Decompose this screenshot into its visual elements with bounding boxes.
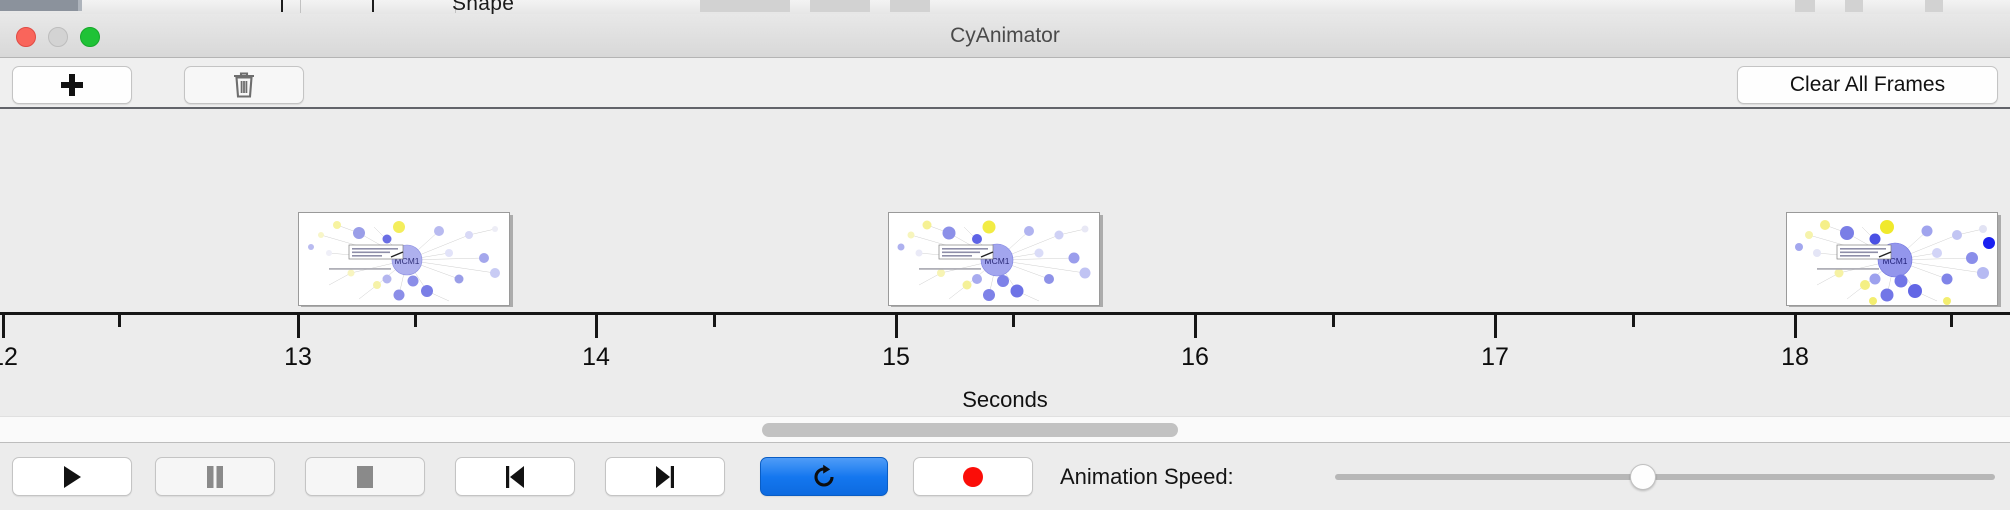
play-button[interactable] — [12, 457, 132, 496]
ruler-tick-major — [895, 315, 898, 338]
background-titlebar-chunk — [0, 0, 78, 11]
timeline-frame-thumbnail[interactable]: MCM1 — [888, 212, 1100, 306]
ruler-tick-label: 17 — [1481, 343, 1509, 372]
add-frame-button[interactable] — [12, 66, 132, 104]
ruler-tick-minor — [414, 315, 417, 327]
background-panel — [1795, 0, 1815, 12]
record-button[interactable] — [913, 457, 1033, 496]
timeline-frame-thumbnail[interactable]: MCM1 — [298, 212, 510, 306]
ruler-tick-major — [297, 315, 300, 338]
background-panel — [810, 0, 870, 12]
scrollbar-thumb[interactable] — [762, 423, 1178, 437]
ruler-tick-label: 18 — [1781, 343, 1809, 372]
ruler-tick-label: 14 — [582, 343, 610, 372]
pause-icon — [205, 465, 225, 489]
plus-icon — [61, 74, 83, 96]
animation-speed-label: Animation Speed: — [1060, 457, 1234, 496]
record-icon — [961, 465, 985, 489]
timeline-ruler[interactable]: 12 13 14 15 16 17 18 Seconds — [0, 307, 2010, 412]
skip-back-icon — [503, 465, 527, 489]
background-panel — [700, 0, 790, 12]
skip-back-button[interactable] — [455, 457, 575, 496]
background-panel — [1845, 0, 1863, 12]
skip-forward-icon — [653, 465, 677, 489]
background-window-label: Shape — [452, 0, 514, 14]
network-graph-thumbnail: MCM1 — [889, 213, 1100, 306]
clear-all-frames-button[interactable]: Clear All Frames — [1737, 66, 1998, 104]
ruler-tick-label: 13 — [284, 343, 312, 372]
animation-speed-slider[interactable] — [1335, 457, 1995, 496]
ruler-tick-label: 15 — [882, 343, 910, 372]
slider-track[interactable] — [1335, 474, 1995, 480]
ruler-tick-minor — [1332, 315, 1335, 327]
background-tick — [372, 0, 374, 12]
ruler-tick-major — [1494, 315, 1497, 338]
toolbar: Clear All Frames — [0, 58, 2010, 109]
ruler-tick-minor — [1950, 315, 1953, 327]
ruler-tick-label: 12 — [0, 343, 18, 372]
ruler-tick-label: 16 — [1181, 343, 1209, 372]
ruler-tick-major — [1794, 315, 1797, 338]
ruler-baseline — [0, 312, 2010, 315]
pause-button[interactable] — [155, 457, 275, 496]
slider-thumb[interactable] — [1630, 464, 1656, 490]
background-tick-gray — [300, 0, 301, 13]
background-window-strip: Shape — [0, 0, 2010, 14]
stop-icon — [354, 465, 376, 489]
background-titlebar-chunk-2 — [78, 0, 82, 11]
transport-bar: Animation Speed: — [0, 444, 2010, 510]
ruler-tick-minor — [1012, 315, 1015, 327]
stop-button[interactable] — [305, 457, 425, 496]
title-bar: CyAnimator — [0, 14, 2010, 58]
window-title: CyAnimator — [0, 14, 2010, 58]
network-graph-thumbnail: MCM1 — [1787, 213, 1998, 306]
ruler-tick-major — [595, 315, 598, 338]
trash-icon — [232, 71, 256, 99]
delete-frame-button[interactable] — [184, 66, 304, 104]
clear-all-frames-label: Clear All Frames — [1790, 73, 1945, 97]
skip-forward-button[interactable] — [605, 457, 725, 496]
background-tick — [281, 0, 283, 12]
ruler-tick-minor — [1632, 315, 1635, 327]
network-graph-thumbnail: MCM1 — [299, 213, 510, 306]
loop-button[interactable] — [760, 457, 888, 496]
background-panel — [1925, 0, 1943, 12]
timeline-frame-thumbnail[interactable]: MCM1 — [1786, 212, 1998, 306]
ruler-tick-major — [1194, 315, 1197, 338]
ruler-tick-minor — [713, 315, 716, 327]
cyanimator-window: Shape CyAnimator Clear All Frames — [0, 0, 2010, 510]
axis-title: Seconds — [0, 387, 2010, 413]
background-panel — [890, 0, 930, 12]
loop-icon — [811, 464, 837, 490]
ruler-tick-major — [2, 315, 5, 338]
timeline-scrollbar[interactable] — [0, 416, 2010, 443]
play-icon — [61, 465, 83, 489]
ruler-tick-minor — [118, 315, 121, 327]
